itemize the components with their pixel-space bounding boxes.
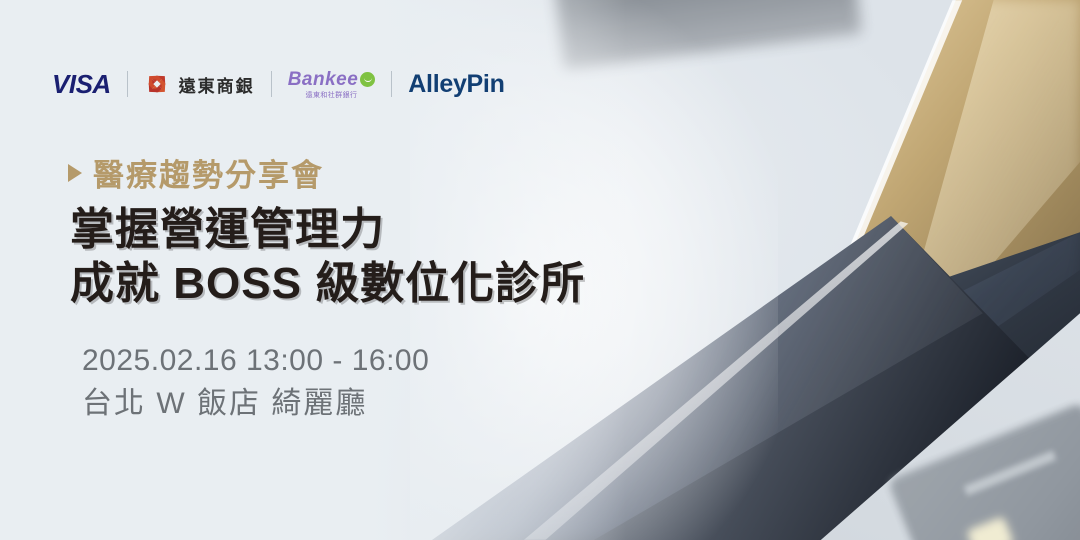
logo-visa: VISA — [52, 69, 111, 100]
logo-bar: VISA 遠東商銀 — [52, 64, 505, 104]
far-eastern-bank-mark-icon — [144, 71, 170, 97]
event-datetime: 2025.02.16 13:00 - 16:00 — [82, 340, 429, 383]
page-title: 掌握營運管理力 成就 BOSS 級數位化診所 — [70, 203, 585, 310]
bankee-wordmark-text: Bankee — [288, 70, 359, 89]
bankee-wordmark: Bankee — [288, 70, 376, 89]
logo-alleypin: AlleyPin — [408, 70, 504, 99]
logo-far-eastern-bank: 遠東商銀 — [144, 71, 255, 97]
event-venue: 台北 W 飯店 綺麗廳 — [82, 383, 429, 426]
eyebrow-label: 醫療趨勢分享會 — [93, 150, 324, 195]
logo-divider — [127, 71, 128, 97]
event-details: 2025.02.16 13:00 - 16:00 台北 W 飯店 綺麗廳 — [82, 340, 429, 425]
alleypin-wordmark: AlleyPin — [408, 70, 504, 99]
bankee-smile-icon — [360, 72, 375, 87]
headline-line-2: 成就 BOSS 級數位化診所 — [70, 257, 585, 311]
logo-divider — [391, 71, 392, 97]
event-banner: VISA 遠東商銀 — [0, 0, 1080, 540]
logo-divider — [271, 71, 272, 97]
bankee-subtitle: 遠東和社群銀行 — [306, 92, 358, 99]
eyebrow: 醫療趨勢分享會 — [68, 150, 324, 195]
triangle-right-icon — [68, 164, 82, 182]
logo-bankee: Bankee 遠東和社群銀行 — [288, 70, 376, 99]
banner-content: VISA 遠東商銀 — [0, 0, 1080, 540]
far-eastern-bank-wordmark: 遠東商銀 — [179, 72, 255, 97]
headline-line-1: 掌握營運管理力 — [70, 203, 585, 257]
visa-wordmark: VISA — [52, 69, 111, 100]
